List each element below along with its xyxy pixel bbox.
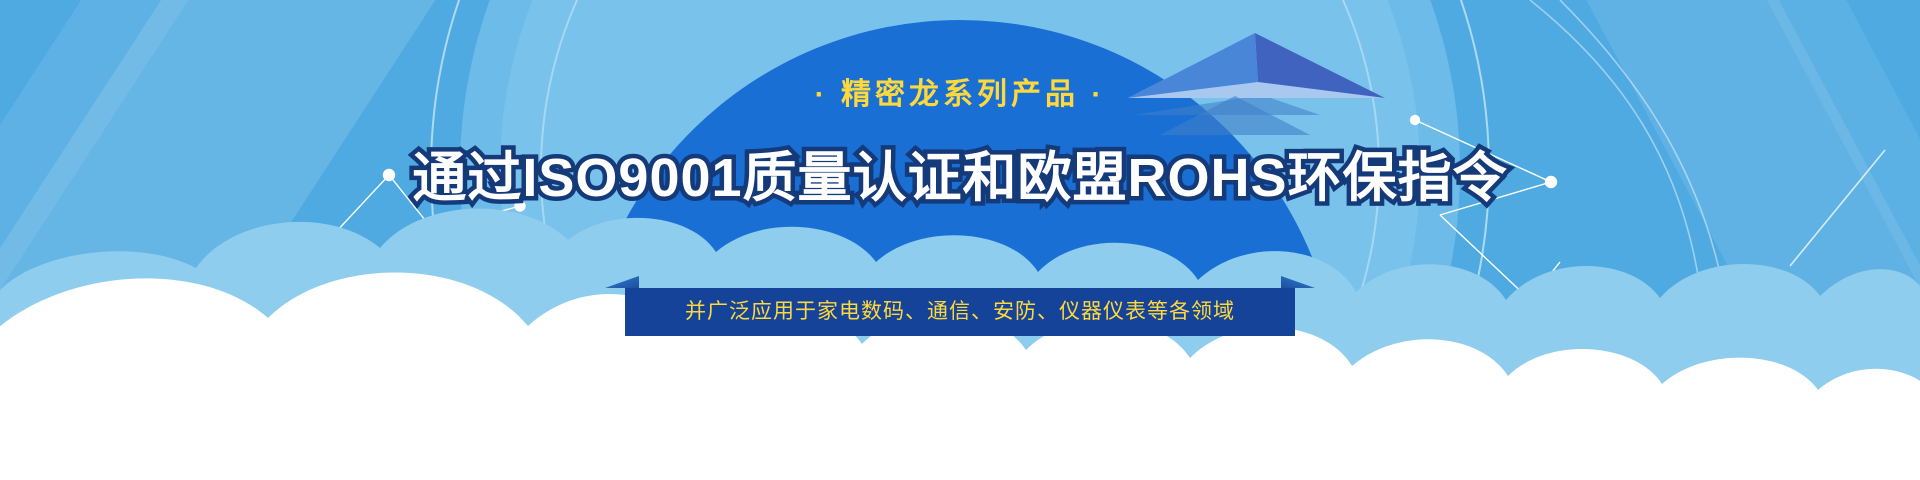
banner-content: · 精密龙系列产品 · 通过ISO9001质量认证和欧盟ROHS环保指令 并广泛… [0, 0, 1920, 480]
subtitle-ribbon: 并广泛应用于家电数码、通信、安防、仪器仪表等各领域 [625, 288, 1295, 336]
eyebrow-text: · 精密龙系列产品 · [0, 78, 1920, 112]
ribbon-flap-right-icon [1281, 276, 1315, 288]
promo-banner: · 精密龙系列产品 · 通过ISO9001质量认证和欧盟ROHS环保指令 并广泛… [0, 0, 1920, 480]
page-title: 通过ISO9001质量认证和欧盟ROHS环保指令 [0, 145, 1920, 211]
ribbon-flap-left-icon [605, 276, 639, 288]
subtitle-text: 并广泛应用于家电数码、通信、安防、仪器仪表等各领域 [685, 300, 1235, 323]
subtitle-ribbon-wrap: 并广泛应用于家电数码、通信、安防、仪器仪表等各领域 [0, 288, 1920, 340]
